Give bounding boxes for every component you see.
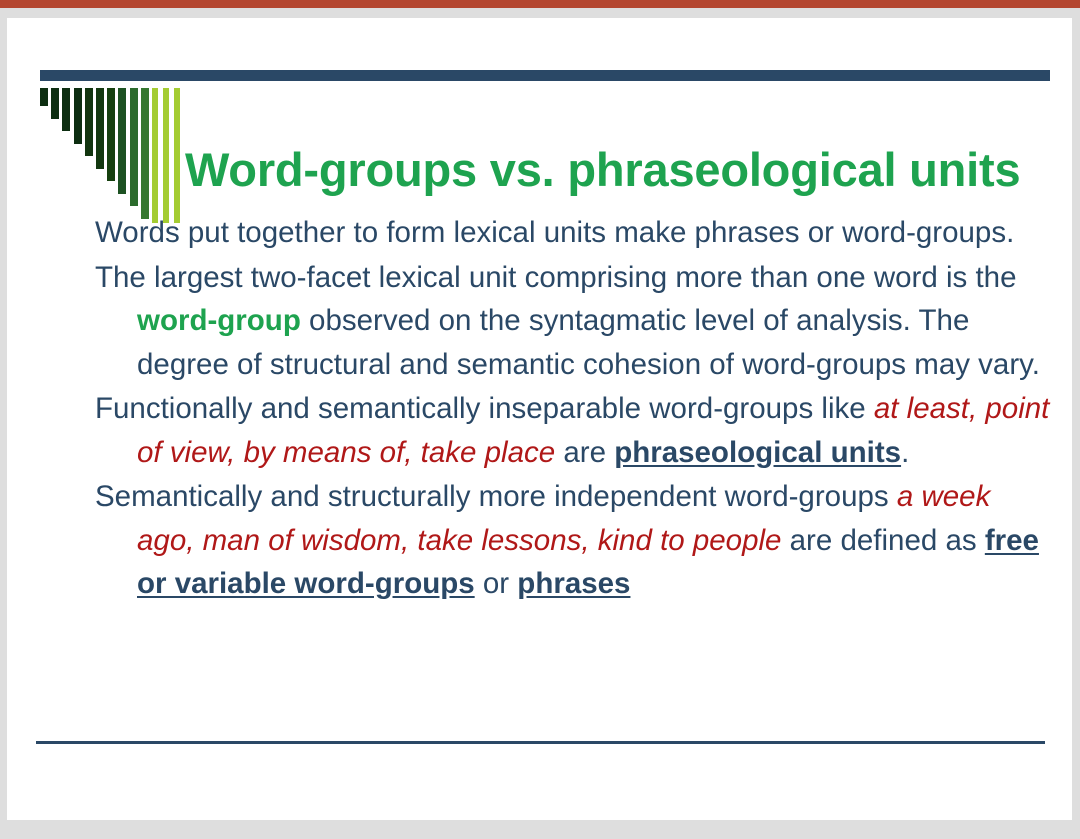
slide-body: Words put together to form lexical units… <box>95 211 1050 606</box>
text-run-plain: . <box>901 436 909 469</box>
decoration-bar <box>174 88 180 223</box>
bottom-divider-line <box>36 741 1045 744</box>
text-run-bold-underline: phrases <box>517 567 630 600</box>
decoration-bar <box>96 88 104 169</box>
decoration-bar <box>152 88 158 223</box>
decoration-bar <box>85 88 93 156</box>
text-run-plain: or <box>475 567 518 600</box>
decoration-bar <box>107 88 115 181</box>
body-paragraph: Words put together to form lexical units… <box>95 211 1050 255</box>
slide-title: Word-groups vs. phraseological units <box>185 146 1070 193</box>
decoration-bar <box>163 88 169 223</box>
text-run-plain: Functionally and semantically inseparabl… <box>95 392 874 425</box>
body-paragraph: Functionally and semantically inseparabl… <box>95 387 1050 474</box>
body-paragraph: Semantically and structurally more indep… <box>95 475 1050 606</box>
decoration-bar <box>62 88 70 131</box>
text-run-bold-underline: phraseological units <box>614 436 901 469</box>
decoration-bar <box>141 88 149 219</box>
text-run-plain: The largest two-facet lexical unit compr… <box>95 261 1017 294</box>
text-run-plain: Words put together to form lexical units… <box>95 216 1014 249</box>
decoration-bar <box>40 88 48 106</box>
decoration-bar <box>51 88 59 119</box>
text-run-green-bold: word-group <box>137 304 301 337</box>
body-paragraph: The largest two-facet lexical unit compr… <box>95 256 1050 387</box>
decoration-bar <box>130 88 138 206</box>
top-accent-strip <box>0 0 1080 8</box>
decoration-bar <box>74 88 82 144</box>
text-run-plain: Semantically and structurally more indep… <box>95 480 897 513</box>
text-run-plain: are defined as <box>781 524 984 557</box>
descending-green-bars-decoration <box>40 88 190 223</box>
decoration-bar <box>118 88 126 194</box>
slide-canvas: Word-groups vs. phraseological units Wor… <box>7 18 1072 820</box>
text-run-plain: are <box>555 436 614 469</box>
title-divider-bar <box>40 70 1050 81</box>
